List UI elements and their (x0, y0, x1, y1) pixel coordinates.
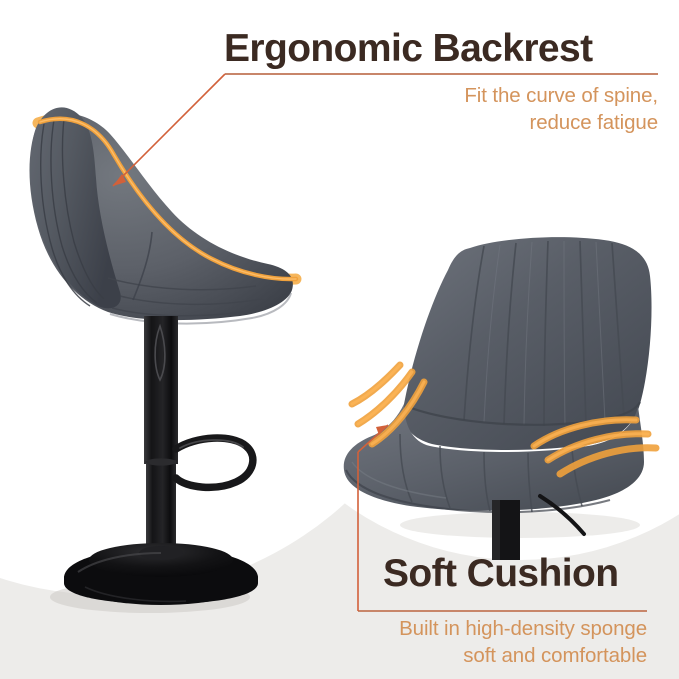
feature-title-soft-cushion: Soft Cushion (383, 552, 618, 596)
feature-subtitle-line2-ergonomic-backrest: reduce fatigue (529, 111, 658, 135)
feature-subtitle-line1-soft-cushion: Built in high-density sponge (399, 617, 647, 641)
feature-subtitle-line1-ergonomic-backrest: Fit the curve of spine, (464, 84, 658, 108)
product-feature-graphic: Ergonomic Backrest Fit the curve of spin… (0, 0, 679, 679)
feature-subtitle-line2-soft-cushion: soft and comfortable (463, 644, 647, 668)
feature-title-ergonomic-backrest: Ergonomic Backrest (224, 27, 593, 71)
